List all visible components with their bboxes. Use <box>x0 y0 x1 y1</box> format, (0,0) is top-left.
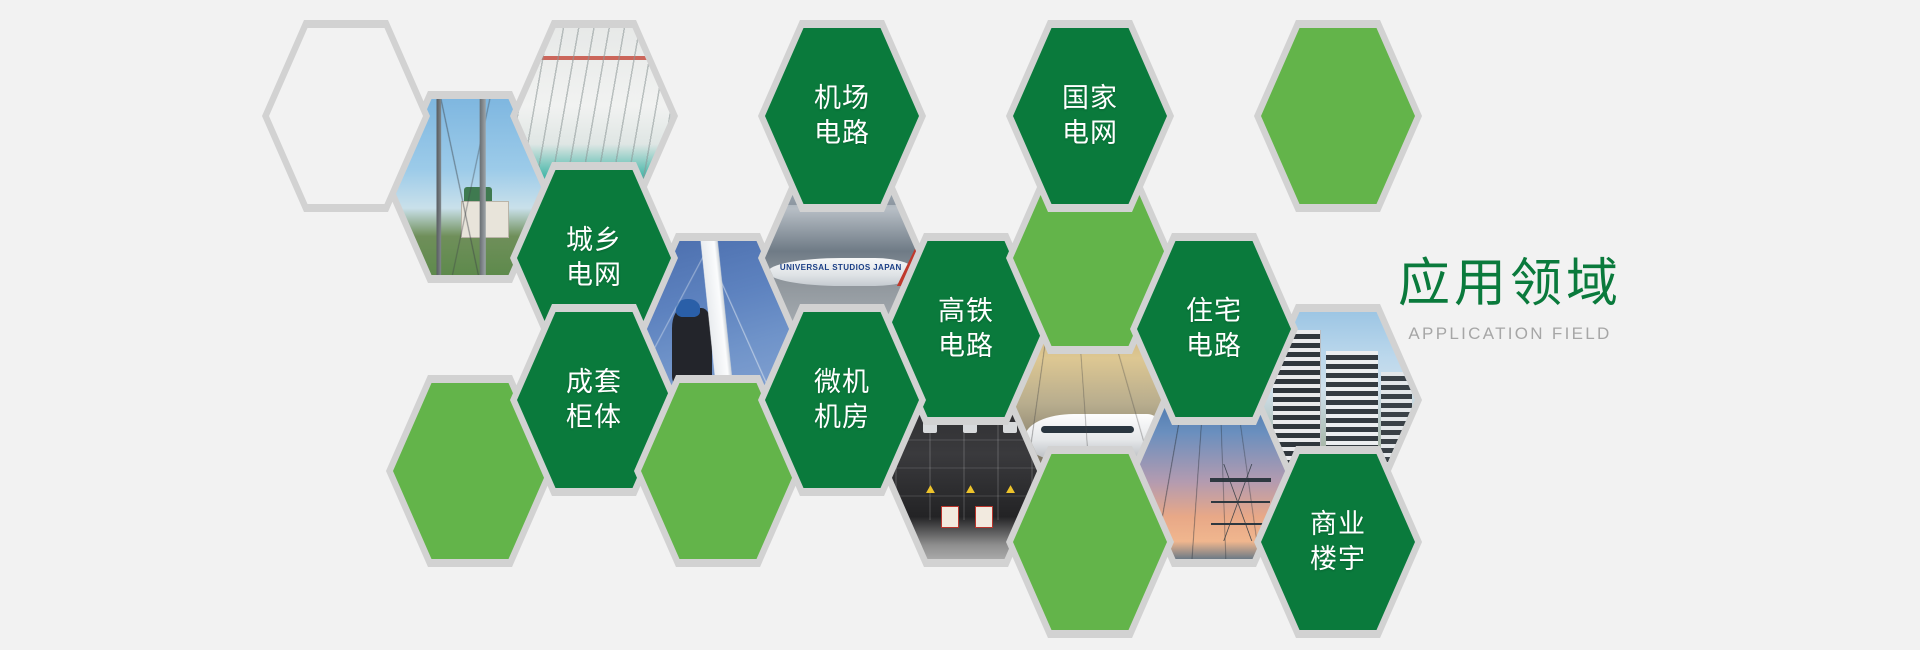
hex-inner: 机场 电路 <box>765 28 919 204</box>
hex-shape: 机场 电路 <box>758 20 926 212</box>
page-title: 应用领域 <box>1398 258 1622 310</box>
hex-inner: 商业 楼宇 <box>1261 454 1415 630</box>
hex-inner <box>1261 28 1415 204</box>
application-field-banner: 城乡 电网 UNIVERSAL STUDIOS JAPAN <box>0 0 1920 650</box>
hex-cell-state-grid[interactable]: 国家 电网 <box>1006 20 1174 212</box>
hex-inner: 国家 电网 <box>1013 28 1167 204</box>
hex-label: 城乡 电网 <box>566 223 622 292</box>
hex-cell-residential[interactable]: 住宅 电路 <box>1130 233 1298 425</box>
hex-inner <box>269 28 423 204</box>
hex-label: 机场 电路 <box>814 81 870 150</box>
hex-shape <box>262 20 430 212</box>
hex-label: 成套 柜体 <box>566 365 622 434</box>
hex-shape <box>1254 20 1422 212</box>
hex-inner <box>1013 454 1167 630</box>
hex-label: 国家 电网 <box>1062 81 1118 150</box>
hex-cell-microcomputer[interactable]: 微机 机房 <box>758 304 926 496</box>
hex-shape: 住宅 电路 <box>1130 233 1298 425</box>
hex-cell-blank-green-bot[interactable] <box>1006 446 1174 638</box>
hex-shape: 国家 电网 <box>1006 20 1174 212</box>
hex-shape: 微机 机房 <box>758 304 926 496</box>
hex-label: 商业 楼宇 <box>1310 507 1366 576</box>
hex-shape: 商业 楼宇 <box>1254 446 1422 638</box>
hex-cell-blank-green-right[interactable] <box>1254 20 1422 212</box>
hex-cell-commercial[interactable]: 商业 楼宇 <box>1254 446 1422 638</box>
hex-label: 住宅 电路 <box>1186 294 1242 363</box>
hex-label: 高铁 电路 <box>938 294 994 363</box>
hex-label: 微机 机房 <box>814 365 870 434</box>
hex-inner: 住宅 电路 <box>1137 241 1291 417</box>
page-subtitle: APPLICATION FIELD <box>1398 324 1622 344</box>
hex-cell-airport-circuit[interactable]: 机场 电路 <box>758 20 926 212</box>
hex-cell-blank-left-top <box>262 20 430 212</box>
hex-shape <box>1006 446 1174 638</box>
heading-block: 应用领域 APPLICATION FIELD <box>1398 258 1622 344</box>
hex-inner: 微机 机房 <box>765 312 919 488</box>
